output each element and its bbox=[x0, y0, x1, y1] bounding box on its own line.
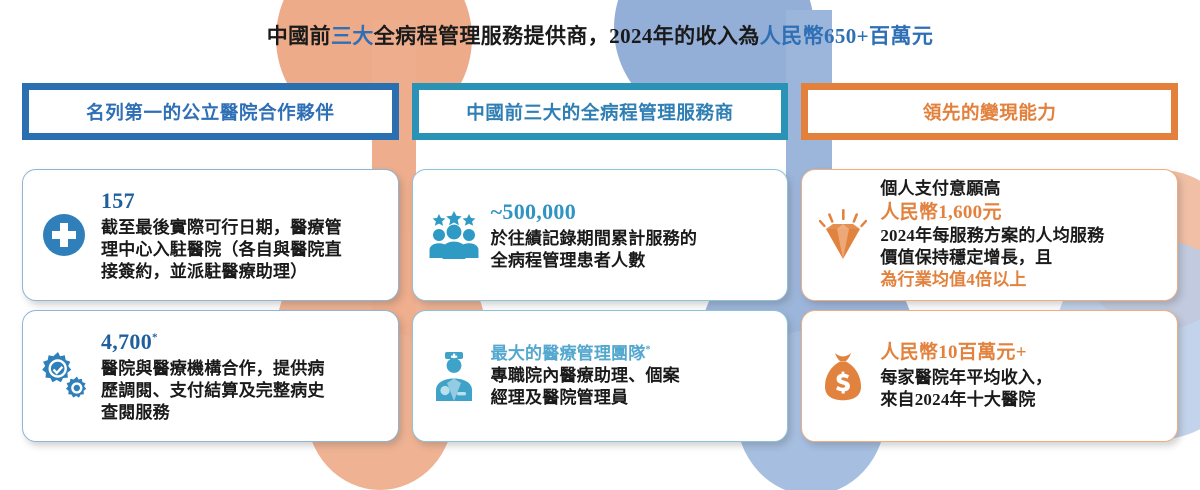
desc-line: 個人支付意願高 bbox=[880, 178, 1163, 200]
doctor-icon bbox=[423, 345, 485, 407]
desc-line: 2024年每服務方案的人均服務 bbox=[880, 225, 1163, 247]
stat-card-body: 個人支付意願高 人民幣1,600元 2024年每服務方案的人均服務 價值保持穩定… bbox=[880, 178, 1163, 291]
card-heading-superscript: * bbox=[645, 344, 650, 355]
stat-value: 4,700* bbox=[101, 328, 384, 357]
desc-line: 價值保持穩定增長，且 bbox=[880, 247, 1163, 269]
desc-line: 每家醫院年平均收入， bbox=[880, 367, 1163, 389]
column-header-row: 名列第一的公立醫院合作夥伴 中國前三大的全病程管理服務商 領先的變現能力 bbox=[22, 83, 1178, 140]
stat-card-revenue-per-hospital[interactable]: 人民幣10百萬元+ 每家醫院年平均收入， 來自2024年十大醫院 bbox=[801, 310, 1178, 442]
diamond-icon bbox=[812, 204, 874, 266]
stat-description: 醫院與醫療機構合作，提供病 歷調閱、支付結算及完整病史 查閱服務 bbox=[101, 358, 384, 424]
stat-card-body: 4,700* 醫院與醫療機構合作，提供病 歷調閱、支付結算及完整病史 查閱服務 bbox=[101, 328, 384, 424]
desc-line: 截至最後實際可行日期，醫療管 bbox=[101, 217, 384, 239]
stat-description: 2024年每服務方案的人均服務 價值保持穩定增長，且 為行業均值4倍以上 bbox=[880, 225, 1163, 291]
stat-card-hospitals-onboarded[interactable]: 157 截至最後實際可行日期，醫療管 理中心入駐醫院（各自與醫院直 接簽約，並派… bbox=[22, 169, 399, 301]
column-header-label: 名列第一的公立醫院合作夥伴 bbox=[86, 99, 334, 125]
stat-card-partner-institutions[interactable]: 4,700* 醫院與醫療機構合作，提供病 歷調閱、支付結算及完整病史 查閱服務 bbox=[22, 310, 399, 442]
stat-card-payment-willingness[interactable]: 個人支付意願高 人民幣1,600元 2024年每服務方案的人均服務 價值保持穩定… bbox=[801, 169, 1178, 301]
stat-card-body: ~500,000 於往績記錄期間累計服務的 全病程管理患者人數 bbox=[491, 198, 774, 272]
money-bag-icon bbox=[812, 345, 874, 407]
desc-line: 來自2024年十大醫院 bbox=[880, 389, 1163, 411]
stat-value: ~500,000 bbox=[491, 198, 774, 227]
people-stars-icon bbox=[423, 204, 485, 266]
desc-line: 接簽約，並派駐醫療助理） bbox=[101, 261, 384, 283]
column-header-top-three-provider[interactable]: 中國前三大的全病程管理服務商 bbox=[412, 83, 789, 140]
stat-superscript: * bbox=[152, 332, 158, 344]
stat-footnote: 為行業均值4倍以上 bbox=[880, 269, 1163, 291]
stat-number: 4,700 bbox=[101, 329, 152, 354]
stat-description: 專職院內醫療助理、個案 經理及醫院管理員 bbox=[491, 365, 774, 409]
stat-card-title: 個人支付意願高 bbox=[880, 178, 1163, 200]
desc-line: 專職院內醫療助理、個案 bbox=[491, 365, 774, 387]
desc-line: 經理及醫院管理員 bbox=[491, 387, 774, 409]
stat-value: 157 bbox=[101, 187, 384, 216]
stat-card-body: 157 截至最後實際可行日期，醫療管 理中心入駐醫院（各自與醫院直 接簽約，並派… bbox=[101, 187, 384, 283]
headline-segment-2: 全病程管理服務提供商，2024年的收入為 bbox=[374, 24, 760, 48]
stat-card-body: 人民幣10百萬元+ 每家醫院年平均收入， 來自2024年十大醫院 bbox=[880, 341, 1163, 411]
column-header-monetization[interactable]: 領先的變現能力 bbox=[801, 83, 1178, 140]
headline-highlight-2: 人民幣650+百萬元 bbox=[760, 24, 933, 48]
card-heading-text: 最大的醫療管理團隊 bbox=[491, 344, 646, 363]
desc-line: 醫院與醫療機構合作，提供病 bbox=[101, 358, 384, 380]
desc-line: 理中心入駐醫院（各自與醫院直 bbox=[101, 239, 384, 261]
desc-line: 查閱服務 bbox=[101, 402, 384, 424]
stat-value: 人民幣10百萬元+ bbox=[880, 341, 1163, 366]
column-header-label: 領先的變現能力 bbox=[923, 99, 1057, 125]
stat-description: 於往績記錄期間累計服務的 全病程管理患者人數 bbox=[491, 228, 774, 272]
stat-card-grid: 157 截至最後實際可行日期，醫療管 理中心入駐醫院（各自與醫院直 接簽約，並派… bbox=[22, 169, 1178, 442]
page-title: 中國前三大全病程管理服務提供商，2024年的收入為人民幣650+百萬元 bbox=[0, 20, 1200, 50]
desc-line: 全病程管理患者人數 bbox=[491, 250, 774, 272]
infographic-slide: 中國前三大全病程管理服務提供商，2024年的收入為人民幣650+百萬元 名列第一… bbox=[0, 0, 1200, 490]
headline-highlight-1: 三大 bbox=[331, 24, 374, 48]
stat-value: 人民幣1,600元 bbox=[880, 201, 1163, 226]
stat-card-largest-medical-team[interactable]: 最大的醫療管理團隊* 專職院內醫療助理、個案 經理及醫院管理員 bbox=[412, 310, 789, 442]
column-header-label: 中國前三大的全病程管理服務商 bbox=[466, 99, 733, 125]
stat-card-heading: 最大的醫療管理團隊* bbox=[491, 343, 774, 365]
medical-cross-icon bbox=[33, 204, 95, 266]
stat-card-body: 最大的醫療管理團隊* 專職院內醫療助理、個案 經理及醫院管理員 bbox=[491, 343, 774, 409]
stat-description: 每家醫院年平均收入， 來自2024年十大醫院 bbox=[880, 367, 1163, 411]
stat-description: 截至最後實際可行日期，醫療管 理中心入駐醫院（各自與醫院直 接簽約，並派駐醫療助… bbox=[101, 217, 384, 283]
column-header-public-hospital-partner[interactable]: 名列第一的公立醫院合作夥伴 bbox=[22, 83, 399, 140]
desc-line: 歷調閱、支付結算及完整病史 bbox=[101, 380, 384, 402]
card-heading: 最大的醫療管理團隊* bbox=[491, 343, 774, 365]
gears-check-icon bbox=[33, 345, 95, 407]
stat-card-patients-served[interactable]: ~500,000 於往績記錄期間累計服務的 全病程管理患者人數 bbox=[412, 169, 789, 301]
desc-line: 於往績記錄期間累計服務的 bbox=[491, 228, 774, 250]
headline-segment-1: 中國前 bbox=[267, 24, 331, 48]
